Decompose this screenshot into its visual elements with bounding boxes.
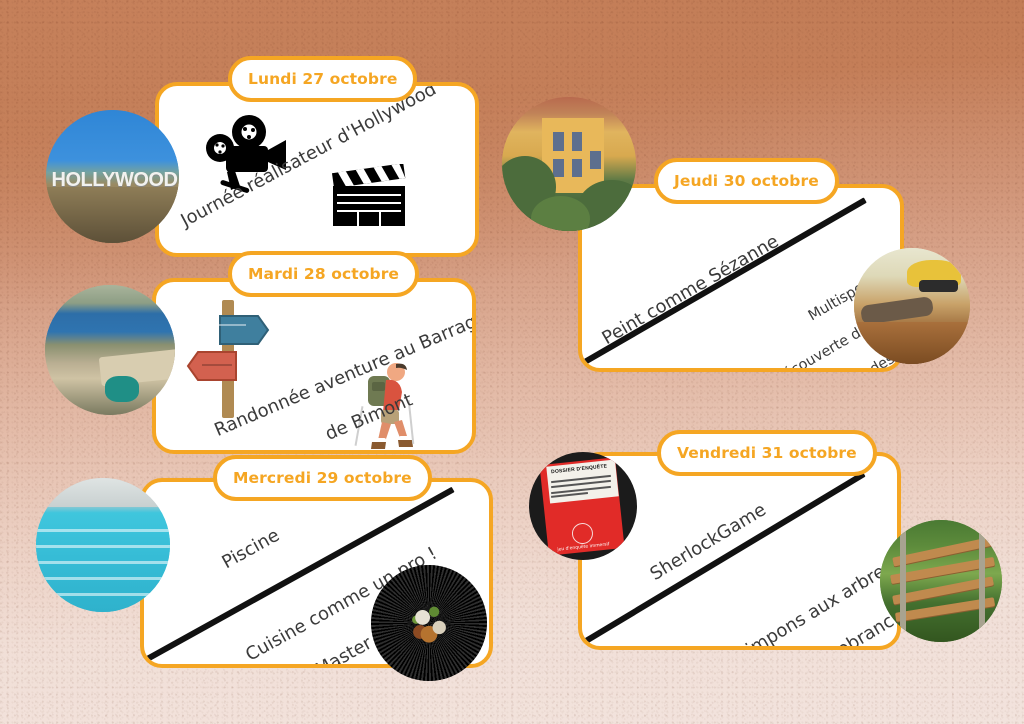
investigation-dossier-photo: DOSSIER D'ENQUÊTE jeu d'enquête immersif xyxy=(529,452,637,560)
accrobranche-photo xyxy=(880,520,1002,642)
swimming-pool-photo xyxy=(36,478,170,612)
date-pill-thursday[interactable]: Jeudi 30 octobre xyxy=(654,158,839,204)
pool-roof xyxy=(36,478,170,507)
date-pill-friday[interactable]: Vendredi 31 octobre xyxy=(657,430,877,476)
plated-food xyxy=(397,595,462,651)
clapperboard-icon xyxy=(331,164,409,234)
hollywood-sign-caption: HOLLYWOOD xyxy=(46,169,179,192)
date-pill-monday[interactable]: Lundi 27 octobre xyxy=(228,56,417,102)
activity-line-2: de Bimont xyxy=(322,390,415,446)
cezanne-painting-photo xyxy=(502,97,636,231)
activity-label-am: Piscine xyxy=(218,524,284,575)
day-card-monday[interactable]: Journée réalisateur d'Hollywood xyxy=(155,82,479,257)
day-card-tuesday[interactable]: Randonnée aventure au Barrage de Bimont xyxy=(152,278,476,454)
gourmet-plate-photo xyxy=(371,565,487,681)
dam-water xyxy=(105,376,139,402)
bimont-dam-photo xyxy=(45,285,175,415)
date-pill-wednesday[interactable]: Mercredi 29 octobre xyxy=(213,455,432,501)
date-pill-tuesday[interactable]: Mardi 28 octobre xyxy=(228,251,419,297)
firefighter-photo xyxy=(854,248,970,364)
hollywood-sign-photo: HOLLYWOOD xyxy=(46,110,179,243)
poster-canvas: Journée réalisateur d'Hollywood Lundi 27… xyxy=(0,0,1024,724)
